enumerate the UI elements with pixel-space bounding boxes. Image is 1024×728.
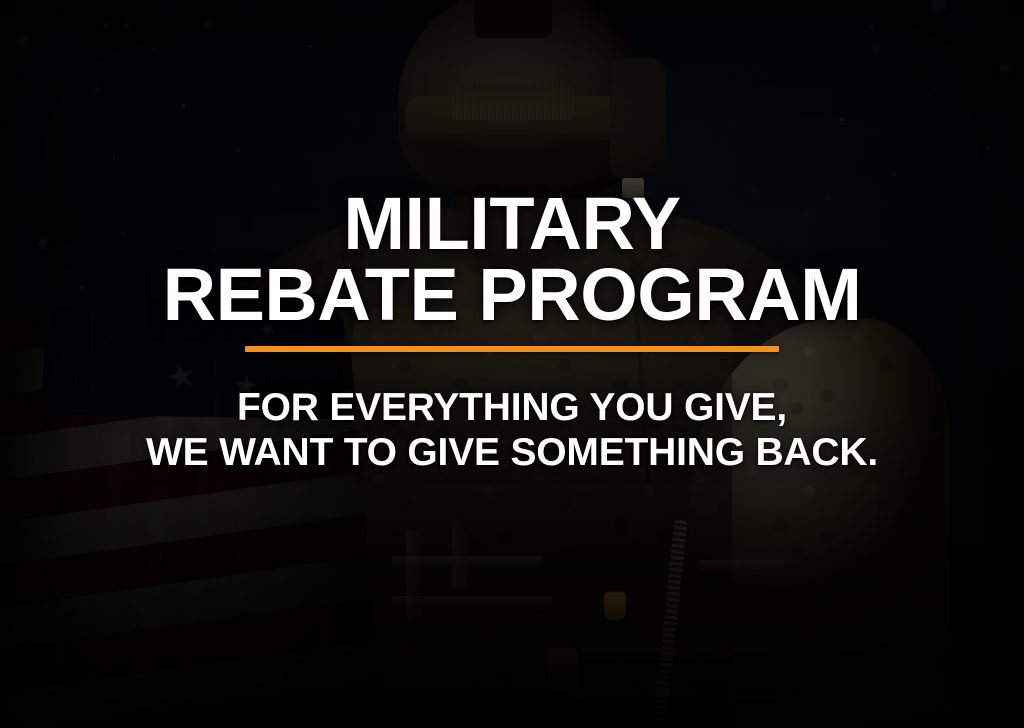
subheadline-line-1: FOR EVERYTHING YOU GIVE,	[146, 386, 878, 431]
poster-content: MILITARY REBATE PROGRAM FOR EVERYTHING Y…	[0, 0, 1024, 728]
headline-line-1: MILITARY	[163, 188, 862, 259]
orange-divider	[245, 346, 779, 352]
headline-line-2: REBATE PROGRAM	[163, 259, 862, 330]
page-title: MILITARY REBATE PROGRAM	[163, 188, 862, 330]
military-rebate-program-poster: ★ ★ ★ ★ ★ ★ MILITARY REBATE PROGRAM FOR …	[0, 0, 1024, 728]
subheadline-line-2: WE WANT TO GIVE SOMETHING BACK.	[146, 431, 878, 476]
subheadline: FOR EVERYTHING YOU GIVE, WE WANT TO GIVE…	[146, 386, 878, 476]
